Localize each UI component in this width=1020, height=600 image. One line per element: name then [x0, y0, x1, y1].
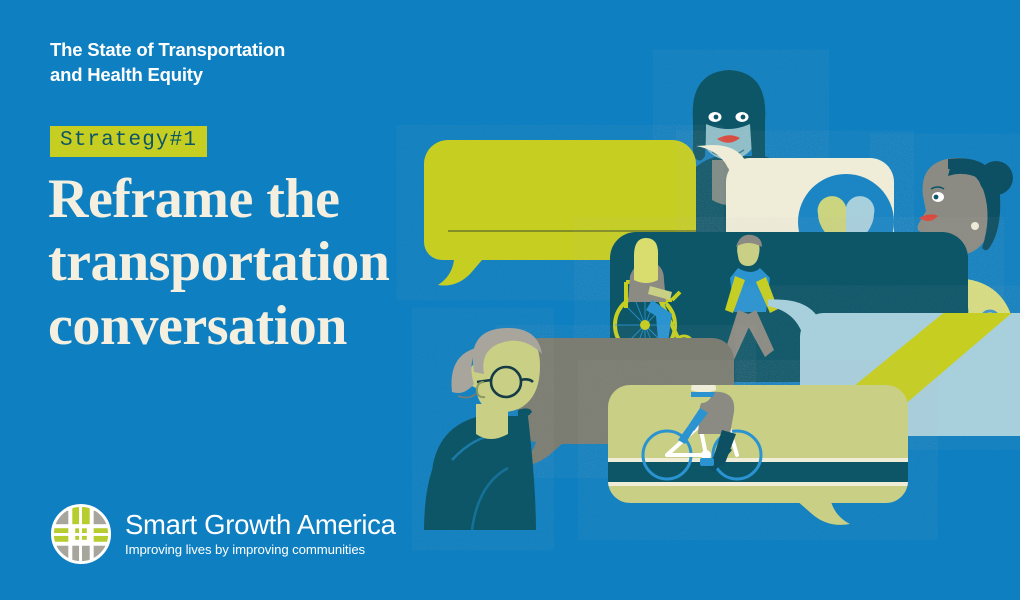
logo-text-block: Smart Growth America Improving lives by …	[125, 511, 396, 558]
organization-logo[interactable]: Smart Growth America Improving lives by …	[50, 503, 396, 565]
logo-tagline: Improving lives by improving communities	[125, 542, 396, 557]
page-title: Reframe the transportation conversation	[48, 168, 468, 358]
deck-kicker: The State of Transportation and Health E…	[50, 38, 380, 88]
strategy-badge: Strategy#1	[50, 126, 207, 157]
logo-name: Smart Growth America	[125, 511, 396, 540]
strategy-badge-wrap: Strategy#1	[50, 126, 207, 157]
plaid-circle-logo-icon	[50, 503, 112, 565]
bubble-sage-bike	[608, 375, 908, 525]
slide-canvas: The State of Transportation and Health E…	[0, 0, 1020, 600]
